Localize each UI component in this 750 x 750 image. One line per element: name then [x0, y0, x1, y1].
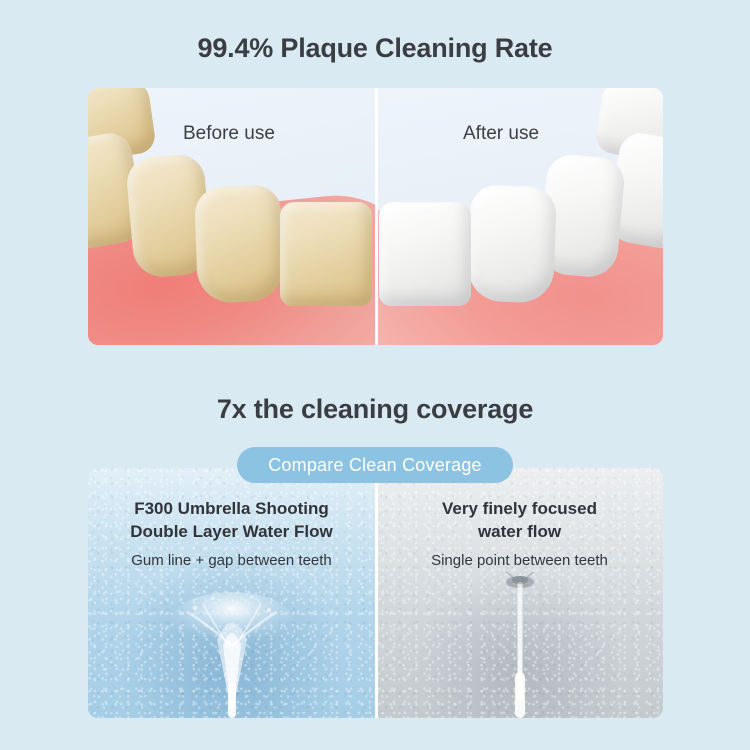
umbrella-flow-panel: F300 Umbrella Shooting Double Layer Wate… [88, 468, 375, 718]
plaque-section-title: 99.4% Plaque Cleaning Rate [0, 33, 750, 64]
flow-comparison-divider [375, 468, 378, 718]
focused-flow-title: Very finely focused water flow [376, 497, 663, 543]
focused-flow-panel: Very finely focused water flow Single po… [376, 468, 663, 718]
focused-flow-title-line2: water flow [478, 522, 561, 541]
before-use-label: Before use [183, 123, 275, 145]
umbrella-water-spray [157, 588, 307, 718]
before-after-teeth-panel: Before use After use [88, 88, 663, 345]
focused-flow-subtitle: Single point between teeth [376, 552, 663, 569]
compare-clean-coverage-badge: Compare Clean Coverage [237, 447, 513, 483]
tooth-after-5 [379, 202, 471, 306]
before-after-divider [375, 88, 378, 345]
after-use-image: After use [376, 88, 663, 345]
tooth-after-4 [467, 185, 557, 304]
water-flow-comparison-panel: F300 Umbrella Shooting Double Layer Wate… [88, 468, 663, 718]
umbrella-flow-subtitle: Gum line + gap between teeth [88, 552, 375, 569]
tooth-before-4 [194, 185, 284, 304]
coverage-section-title: 7x the cleaning coverage [0, 394, 750, 425]
umbrella-flow-title-line1: F300 Umbrella Shooting [134, 499, 329, 518]
focused-flow-title-line1: Very finely focused [442, 499, 597, 518]
focused-water-spray [490, 568, 550, 718]
umbrella-flow-title: F300 Umbrella Shooting Double Layer Wate… [88, 497, 375, 543]
after-use-label: After use [463, 123, 539, 145]
tooth-before-5 [280, 202, 372, 306]
before-use-image: Before use [88, 88, 375, 345]
umbrella-flow-title-line2: Double Layer Water Flow [130, 522, 332, 541]
